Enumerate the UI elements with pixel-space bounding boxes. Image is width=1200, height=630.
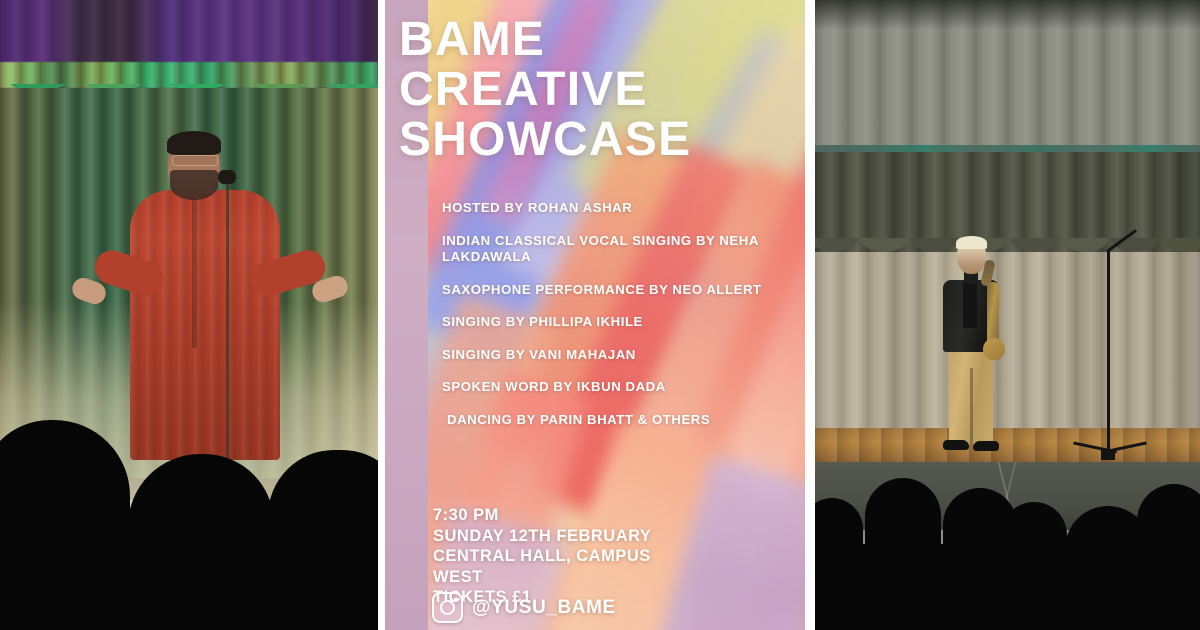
audience-silhouettes-left	[0, 380, 378, 630]
title-line-2: CREATIVE	[399, 65, 804, 115]
audience-head	[815, 498, 863, 630]
instagram-icon	[432, 592, 463, 623]
lineup-item-singing-phillipa: SINGING BY PHILLIPA IKHILE	[442, 314, 772, 331]
lineup-item-singing-vani: SINGING BY VANI MAHAJAN	[442, 347, 772, 364]
poster-title: BAME CREATIVE SHOWCASE	[399, 15, 804, 165]
title-line-1: BAME	[399, 15, 804, 65]
divider-right	[805, 0, 815, 630]
photo-left-vocalist	[0, 0, 378, 630]
instagram-handle-text: @YUSU_BAME	[472, 597, 616, 619]
vocalist-beard	[170, 170, 218, 200]
kurta-placket	[192, 198, 197, 348]
audience-head	[1137, 484, 1200, 630]
saxophonist-hair	[956, 236, 987, 249]
lineup-item-saxophone: SAXOPHONE PERFORMANCE BY NEO ALLERT	[442, 282, 772, 299]
poster-collage: BAME CREATIVE SHOWCASE HOSTED BY ROHAN A…	[0, 0, 1200, 630]
jacket-lapel	[963, 282, 977, 328]
lineup-list: HOSTED BY ROHAN ASHAR INDIAN CLASSICAL V…	[442, 200, 772, 444]
title-line-3: SHOWCASE	[399, 115, 804, 165]
audience-head	[865, 478, 941, 630]
saxophone-body	[987, 282, 999, 344]
lineup-item-vocal: INDIAN CLASSICAL VOCAL SINGING BY NEHA L…	[442, 233, 772, 266]
vocalist-hair	[167, 131, 221, 155]
event-date: SUNDAY 12TH FEBRUARY	[433, 526, 683, 547]
purple-curtain-top	[0, 0, 378, 66]
audience-head	[0, 420, 130, 630]
lineup-item-host: HOSTED BY ROHAN ASHAR	[442, 200, 772, 217]
ceiling-shadow	[815, 0, 1200, 30]
event-time: 7:30 PM	[433, 505, 683, 526]
lineup-item-dancing: DANCING BY PARIN BHATT & OTHERS	[442, 412, 772, 429]
audience-silhouettes-right	[815, 420, 1200, 630]
saxophone	[981, 260, 1003, 356]
photo-right-saxophonist	[815, 0, 1200, 630]
event-venue: CENTRAL HALL, CAMPUS WEST	[433, 546, 683, 587]
audience-head	[268, 450, 378, 630]
mid-curtain	[815, 152, 1200, 252]
event-poster: BAME CREATIVE SHOWCASE HOSTED BY ROHAN A…	[385, 0, 805, 630]
microphone-left	[218, 170, 236, 184]
lineup-item-spoken-word: SPOKEN WORD BY IKBUN DADA	[442, 379, 772, 396]
poster-background: BAME CREATIVE SHOWCASE HOSTED BY ROHAN A…	[385, 0, 805, 630]
social-handle[interactable]: @YUSU_BAME	[432, 592, 616, 623]
audience-head	[128, 454, 274, 630]
saxophone-bell	[983, 338, 1005, 360]
eyeglasses	[172, 155, 218, 166]
audience-head	[1001, 502, 1067, 630]
divider-left	[378, 0, 385, 630]
